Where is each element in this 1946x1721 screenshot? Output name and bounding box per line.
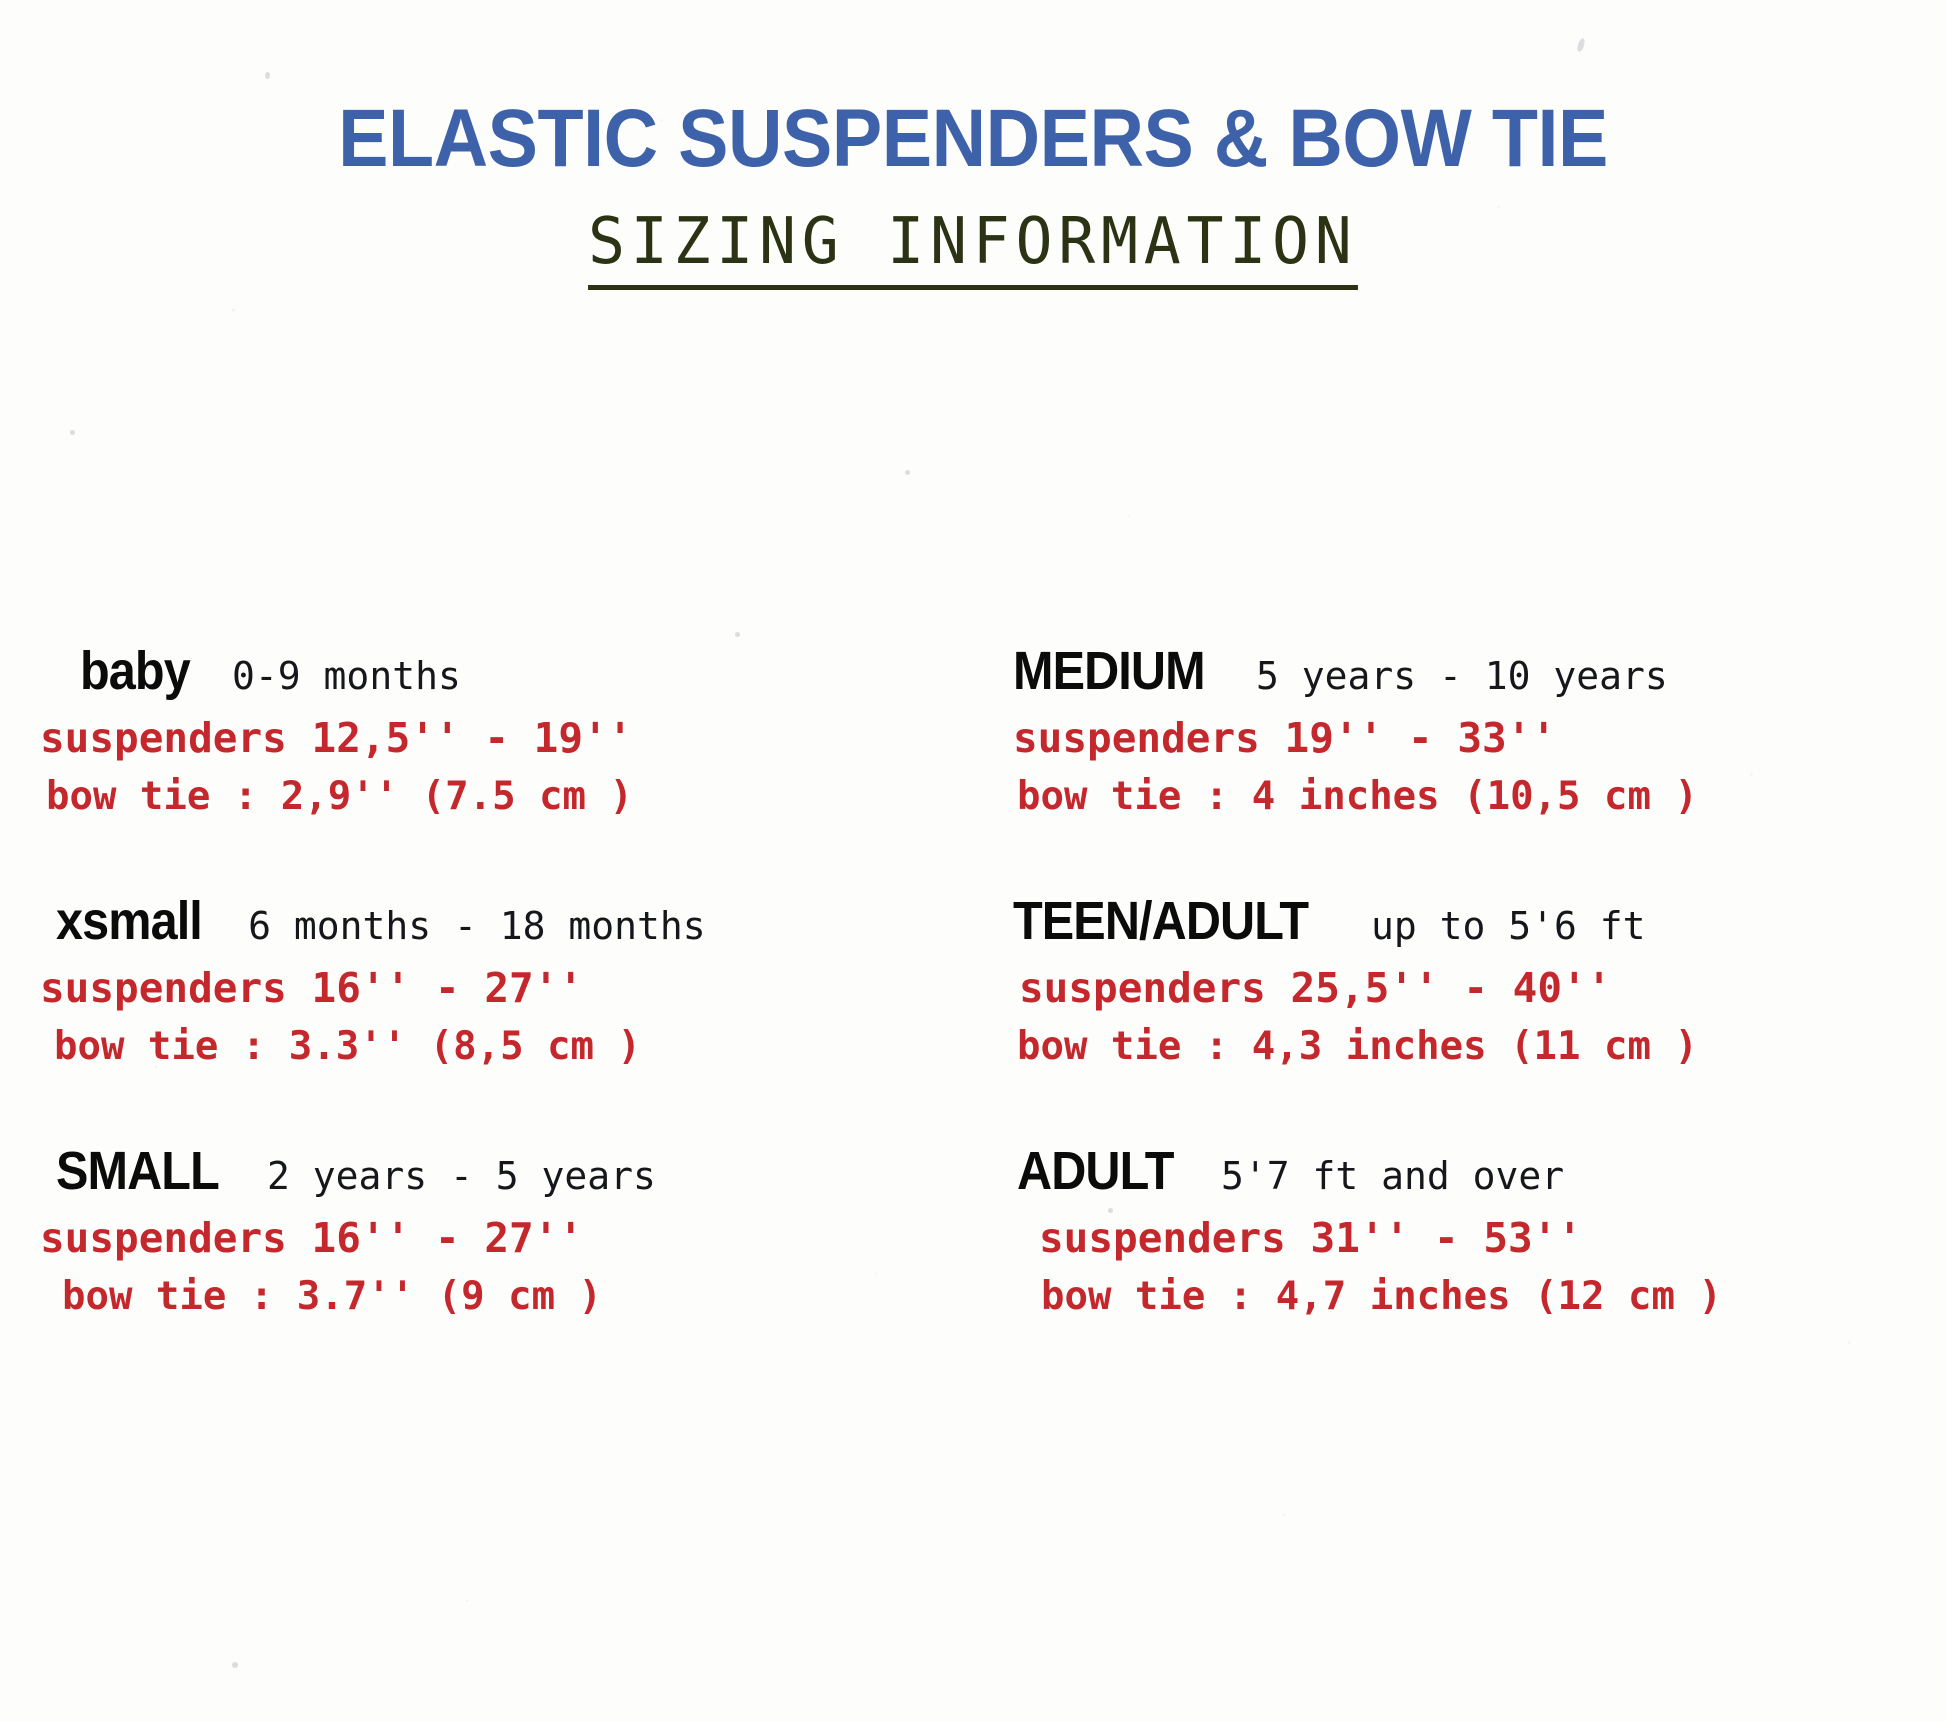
scan-speck	[905, 470, 910, 475]
size-name: MEDIUM	[1013, 640, 1205, 702]
suspenders-measurement: suspenders 16'' - 27''	[40, 964, 933, 1012]
size-header: TEEN/ADULT up to 5'6 ft	[1013, 890, 1906, 952]
size-block-baby: baby 0-9 months suspenders 12,5'' - 19''…	[0, 640, 973, 890]
size-age-range: 0-9 months	[232, 654, 461, 698]
bow-tie-measurement: bow tie : 4 inches (10,5 cm )	[1013, 774, 1906, 819]
size-age-range: 6 months - 18 months	[248, 904, 706, 948]
size-name: xsmall	[56, 890, 202, 952]
size-name: baby	[80, 640, 190, 702]
page-title: ELASTIC SUSPENDERS & BOW TIE	[78, 96, 1868, 181]
bow-tie-measurement: bow tie : 4,7 inches (12 cm )	[1013, 1274, 1906, 1319]
scan-speck	[70, 430, 75, 435]
size-name: SMALL	[56, 1140, 219, 1202]
subtitle-container: SIZING INFORMATION	[0, 205, 1946, 290]
size-header: baby 0-9 months	[40, 640, 933, 702]
size-block-medium: MEDIUM 5 years - 10 years suspenders 19'…	[973, 640, 1946, 890]
size-chart-grid: baby 0-9 months suspenders 12,5'' - 19''…	[0, 640, 1946, 1390]
size-name: ADULT	[1017, 1140, 1174, 1202]
suspenders-measurement: suspenders 31'' - 53''	[1013, 1214, 1906, 1262]
size-age-range: 2 years - 5 years	[267, 1154, 656, 1198]
size-block-small: SMALL 2 years - 5 years suspenders 16'' …	[0, 1140, 973, 1390]
suspenders-measurement: suspenders 12,5'' - 19''	[40, 714, 933, 762]
scan-speck	[232, 1662, 238, 1668]
size-block-xsmall: xsmall 6 months - 18 months suspenders 1…	[0, 890, 973, 1140]
size-header: ADULT 5'7 ft and over	[1013, 1140, 1906, 1202]
size-age-range: 5 years - 10 years	[1256, 654, 1668, 698]
bow-tie-measurement: bow tie : 3.7'' (9 cm )	[40, 1274, 933, 1319]
bow-tie-measurement: bow tie : 3.3'' (8,5 cm )	[40, 1024, 933, 1069]
size-header: MEDIUM 5 years - 10 years	[1013, 640, 1906, 702]
size-block-adult: ADULT 5'7 ft and over suspenders 31'' - …	[973, 1140, 1946, 1390]
bow-tie-measurement: bow tie : 4,3 inches (11 cm )	[1013, 1024, 1906, 1069]
scan-speck	[735, 632, 740, 637]
page-header: ELASTIC SUSPENDERS & BOW TIE SIZING INFO…	[0, 0, 1946, 290]
suspenders-measurement: suspenders 25,5'' - 40''	[1013, 964, 1906, 1012]
page-subtitle: SIZING INFORMATION	[588, 205, 1358, 290]
suspenders-measurement: suspenders 16'' - 27''	[40, 1214, 933, 1262]
size-name: TEEN/ADULT	[1013, 890, 1308, 952]
size-block-teen-adult: TEEN/ADULT up to 5'6 ft suspenders 25,5'…	[973, 890, 1946, 1140]
bow-tie-measurement: bow tie : 2,9'' (7.5 cm )	[40, 774, 933, 819]
size-header: SMALL 2 years - 5 years	[40, 1140, 933, 1202]
suspenders-measurement: suspenders 19'' - 33''	[1013, 714, 1906, 762]
size-header: xsmall 6 months - 18 months	[40, 890, 933, 952]
size-age-range: 5'7 ft and over	[1221, 1154, 1564, 1198]
size-age-range: up to 5'6 ft	[1371, 904, 1646, 948]
